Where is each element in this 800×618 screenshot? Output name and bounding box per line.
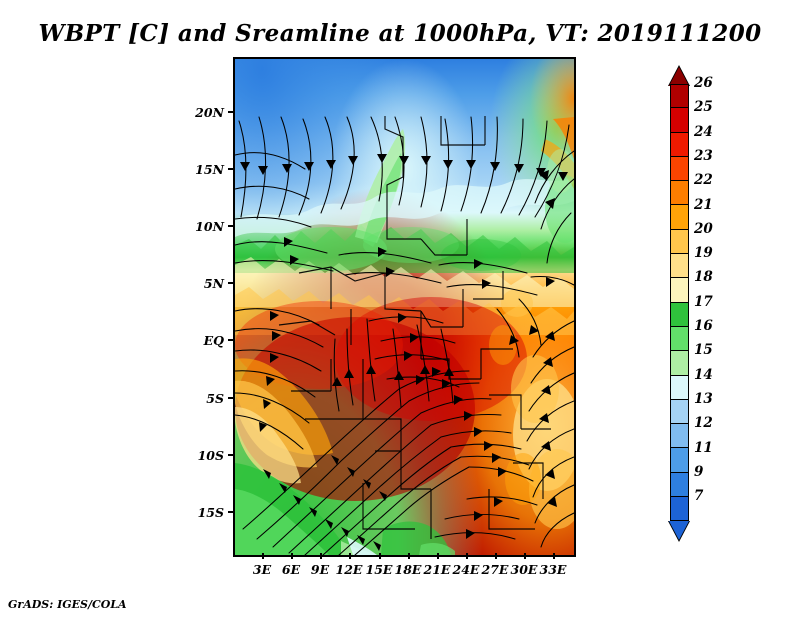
attribution: GrADS: IGES/COLA [8,598,127,611]
wbpt-field: .sl{fill:none;stroke:#000;stroke-width:1… [235,59,574,555]
colorbar-label-11: 11 [694,442,713,456]
colorbar-label-15: 15 [694,344,713,358]
y-tick-15n [228,168,234,170]
y-label-5s: 5S [180,391,224,406]
y-label-15s: 15S [180,505,224,520]
y-label-10n: 10N [180,219,224,234]
y-tick-15s [228,511,234,513]
colorbar-label-25: 25 [694,101,713,115]
x-tick-33e [553,553,555,559]
colorbar-segment-7 [670,497,689,521]
y-tick-10s [228,454,234,456]
colorbar-segment-23 [670,157,689,181]
x-label-33e: 33E [533,562,573,577]
colorbar-segment-16 [670,327,689,351]
page-title: WBPT [C] and Sreamline at 1000hPa, VT: 2… [0,20,800,47]
y-tick-5s [228,397,234,399]
colorbar-segment-17 [670,303,689,327]
colorbar-segment-22 [670,181,689,205]
colorbar-segment-12 [670,424,689,448]
colorbar-label-7: 7 [694,490,703,504]
colorbar-segment-25 [670,108,689,132]
colorbar-label-26: 26 [694,77,713,91]
x-tick-12e [349,553,351,559]
colorbar-segment-21 [670,205,689,229]
colorbar-label-24: 24 [694,126,713,140]
colorbar-segment-13 [670,400,689,424]
colorbar-segment-24 [670,133,689,157]
map-canvas: .sl{fill:none;stroke:#000;stroke-width:1… [235,59,574,555]
x-tick-6e [291,553,293,559]
y-label-5n: 5N [180,276,224,291]
x-tick-15e [379,553,381,559]
colorbar-label-18: 18 [694,271,713,285]
y-label-20n: 20N [180,105,224,120]
colorbar-segment-15 [670,351,689,375]
y-label-eq: EQ [180,333,224,348]
colorbar-segment-19 [670,254,689,278]
colorbar-label-17: 17 [694,296,713,310]
x-tick-3e [262,553,264,559]
x-tick-27e [495,553,497,559]
colorbar-segments [670,84,689,521]
y-tick-5n [228,282,234,284]
colorbar-label-9: 9 [694,466,703,480]
colorbar-segment-26 [670,84,689,108]
chart-page: WBPT [C] and Sreamline at 1000hPa, VT: 2… [0,0,800,618]
colorbar-label-21: 21 [694,199,713,213]
y-label-15n: 15N [180,162,224,177]
y-label-10s: 10S [180,448,224,463]
x-tick-21e [437,553,439,559]
x-tick-18e [408,553,410,559]
colorbar-label-22: 22 [694,174,713,188]
x-tick-30e [524,553,526,559]
colorbar-segment-11 [670,448,689,472]
colorbar-label-20: 20 [694,223,713,237]
colorbar-segment-18 [670,278,689,302]
y-tick-20n [228,111,234,113]
colorbar-label-13: 13 [694,393,713,407]
x-tick-9e [320,553,322,559]
y-tick-10n [228,225,234,227]
colorbar-label-14: 14 [694,369,713,383]
colorbar-label-19: 19 [694,247,713,261]
colorbar-label-16: 16 [694,320,713,334]
colorbar-segment-20 [670,230,689,254]
x-tick-24e [466,553,468,559]
colorbar-label-12: 12 [694,417,713,431]
colorbar-label-23: 23 [694,150,713,164]
colorbar-segment-14 [670,376,689,400]
y-tick-eq [228,339,234,341]
colorbar-cap-bottom [669,521,689,540]
colorbar-segment-9 [670,473,689,497]
map-plot-area: .sl{fill:none;stroke:#000;stroke-width:1… [233,57,576,557]
